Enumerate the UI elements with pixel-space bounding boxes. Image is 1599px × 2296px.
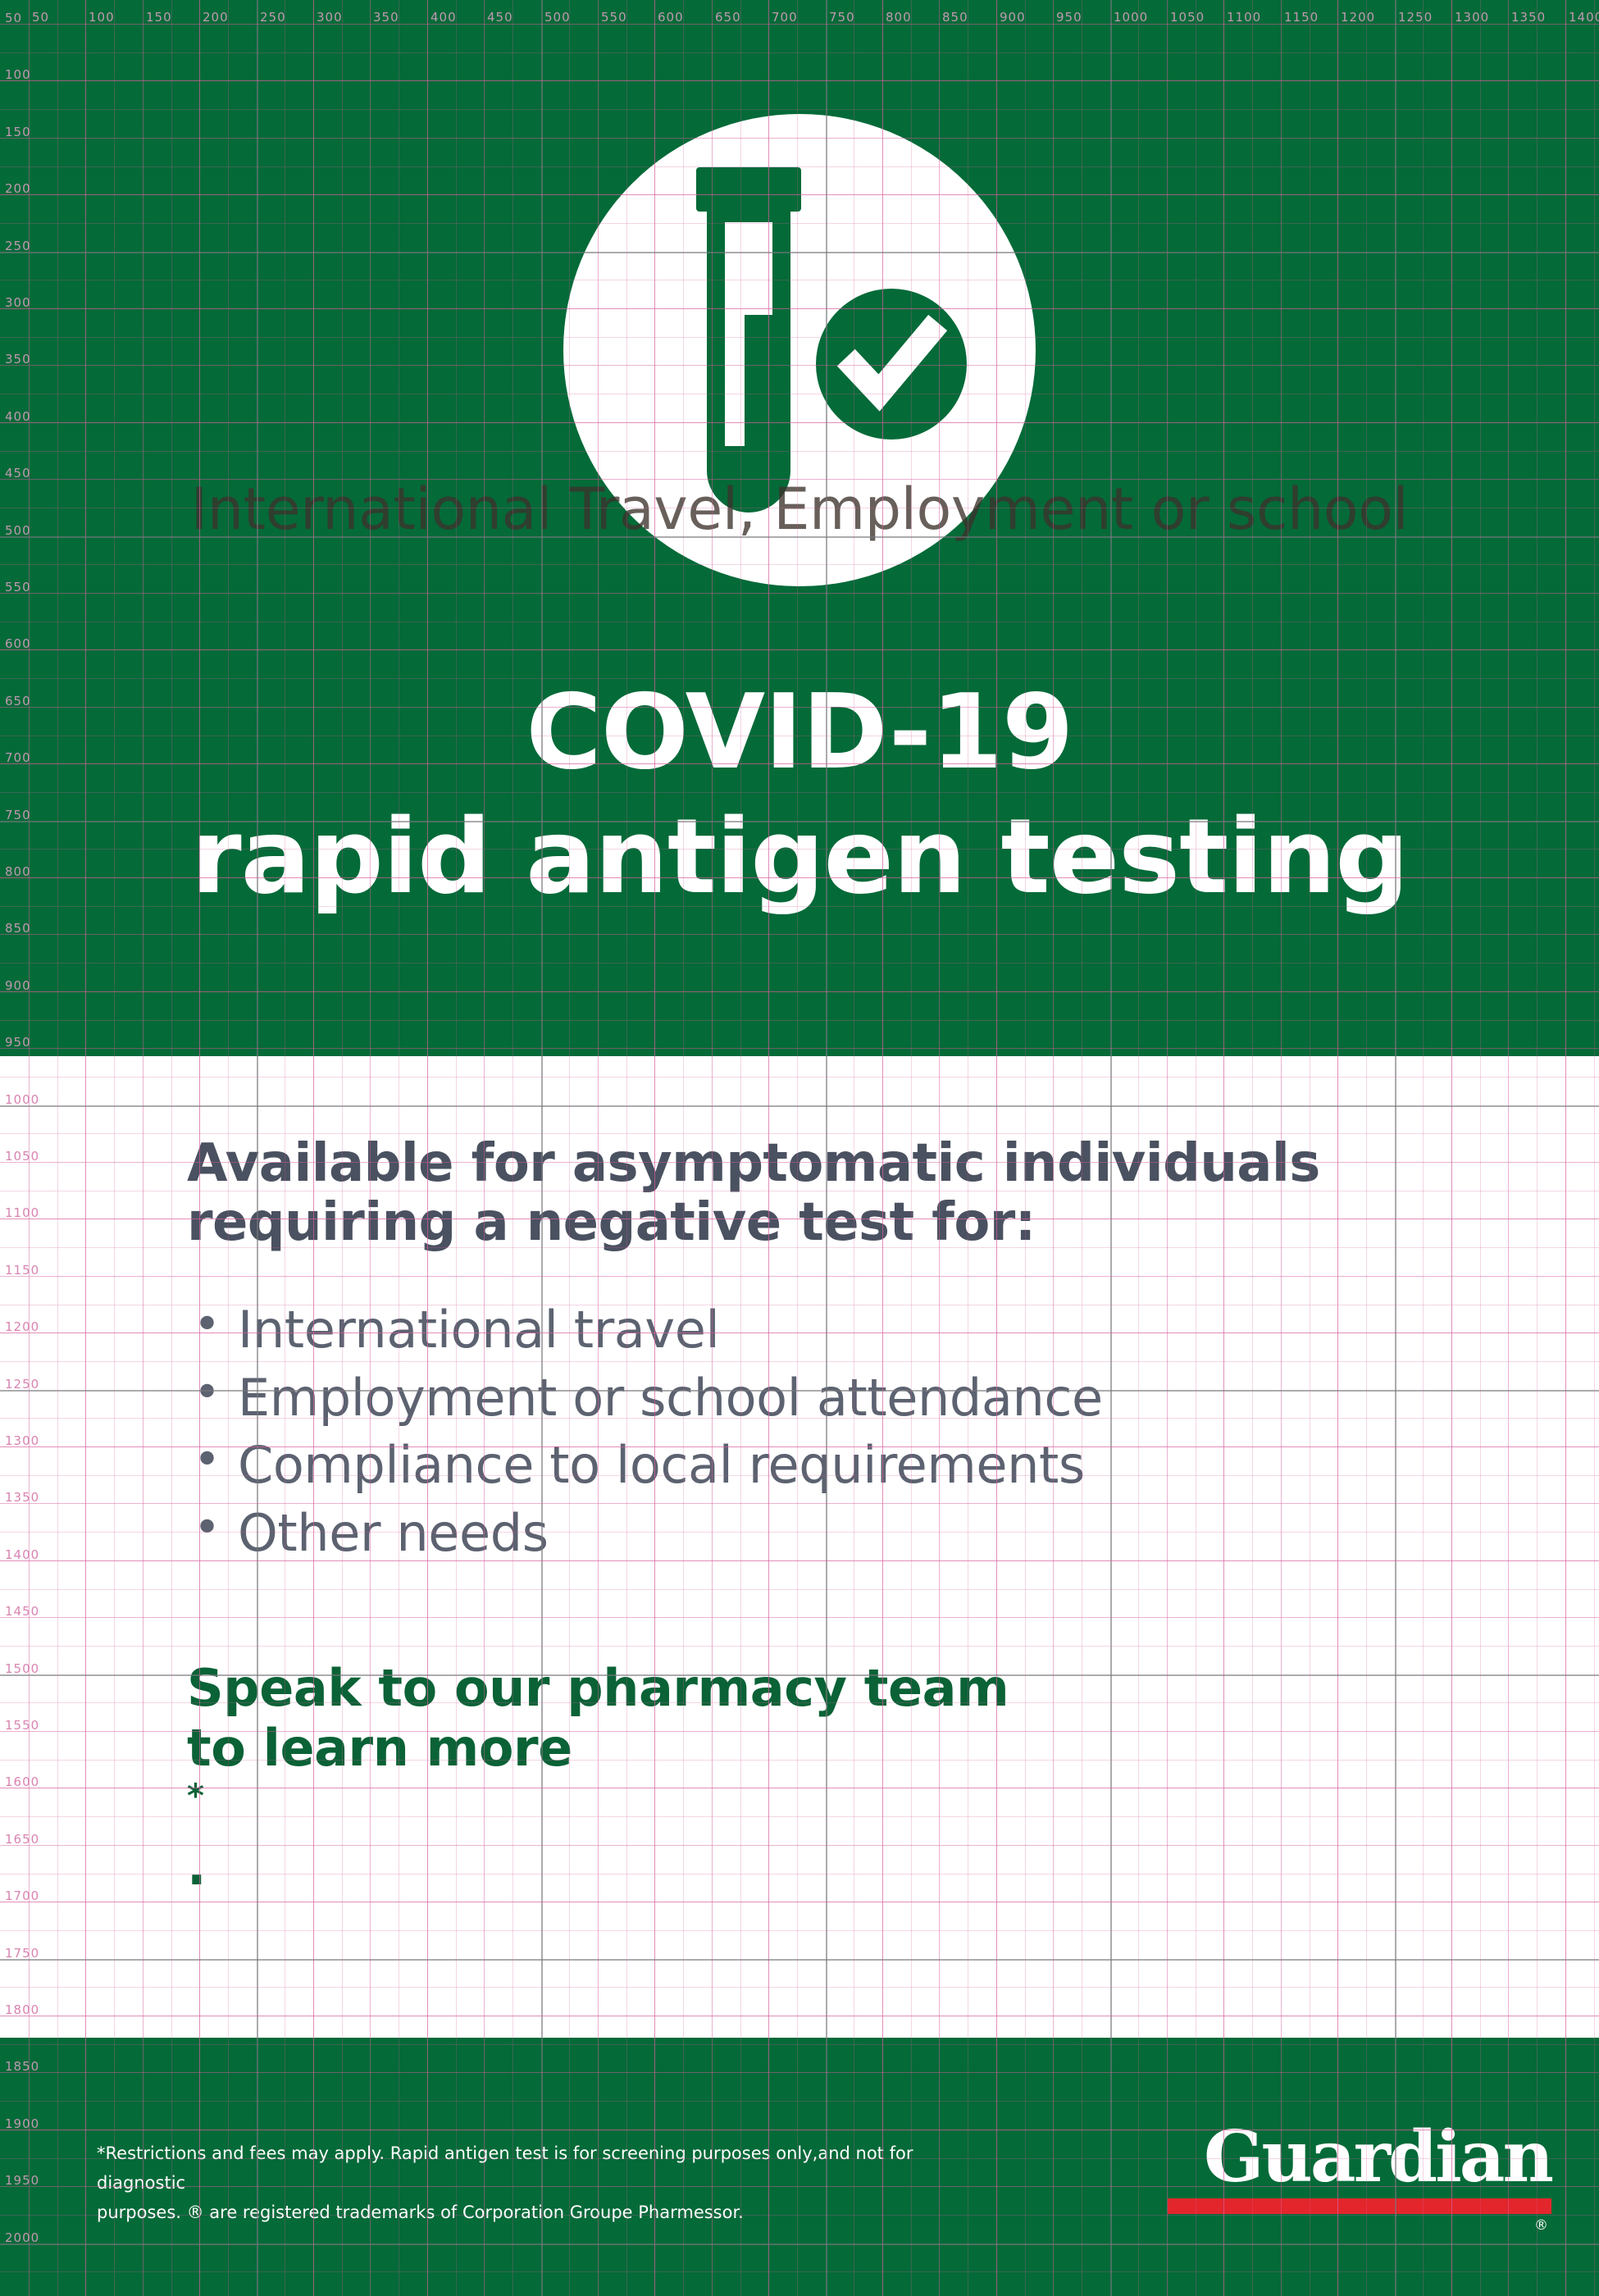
- cta-line-1: Speak to our pharmacy team: [187, 1659, 1433, 1719]
- list-item: Employment or school attendance: [187, 1364, 1433, 1432]
- overlay-headline-text: International Travel, Employment or scho…: [0, 481, 1599, 538]
- list-item: Compliance to local requirements: [187, 1432, 1433, 1499]
- poster-canvas: International Travel, Employment or scho…: [0, 0, 1599, 2296]
- disclaimer-line-1: *Restrictions and fees may apply. Rapid …: [97, 2139, 925, 2198]
- headline-line-1: COVID-19: [0, 681, 1599, 784]
- list-item: Other needs: [187, 1500, 1433, 1567]
- reasons-list: International travel Employment or schoo…: [187, 1296, 1433, 1567]
- cta-line-2: to learn more: [187, 1719, 1433, 1779]
- subheading: Available for asymptomatic individuals r…: [187, 1135, 1433, 1252]
- headline-line-2: rapid antigen testing: [0, 805, 1599, 909]
- footer-disclaimer: *Restrictions and fees may apply. Rapid …: [97, 2139, 925, 2227]
- content-block: Available for asymptomatic individuals r…: [187, 1135, 1433, 1897]
- subheading-line-2: requiring a negative test for:: [187, 1194, 1433, 1253]
- registered-trademark-icon: ®: [1534, 2217, 1548, 2234]
- cta-period: .: [187, 1838, 1433, 1897]
- list-item: International travel: [187, 1296, 1433, 1364]
- cta-line-2-wrapper: to learn more*.: [187, 1719, 1433, 1897]
- brand-lockup: Guardian ®: [1168, 2124, 1551, 2214]
- subheading-line-1: Available for asymptomatic individuals: [187, 1135, 1433, 1194]
- brand-red-rule: ®: [1168, 2198, 1551, 2214]
- disclaimer-line-2: purposes. ® are registered trademarks of…: [97, 2198, 925, 2227]
- cta-footnote-marker: *: [187, 1778, 204, 1815]
- call-to-action: Speak to our pharmacy team to learn more…: [187, 1659, 1433, 1897]
- page-title: COVID-19 rapid antigen testing: [0, 681, 1599, 909]
- brand-name: Guardian: [1168, 2124, 1551, 2192]
